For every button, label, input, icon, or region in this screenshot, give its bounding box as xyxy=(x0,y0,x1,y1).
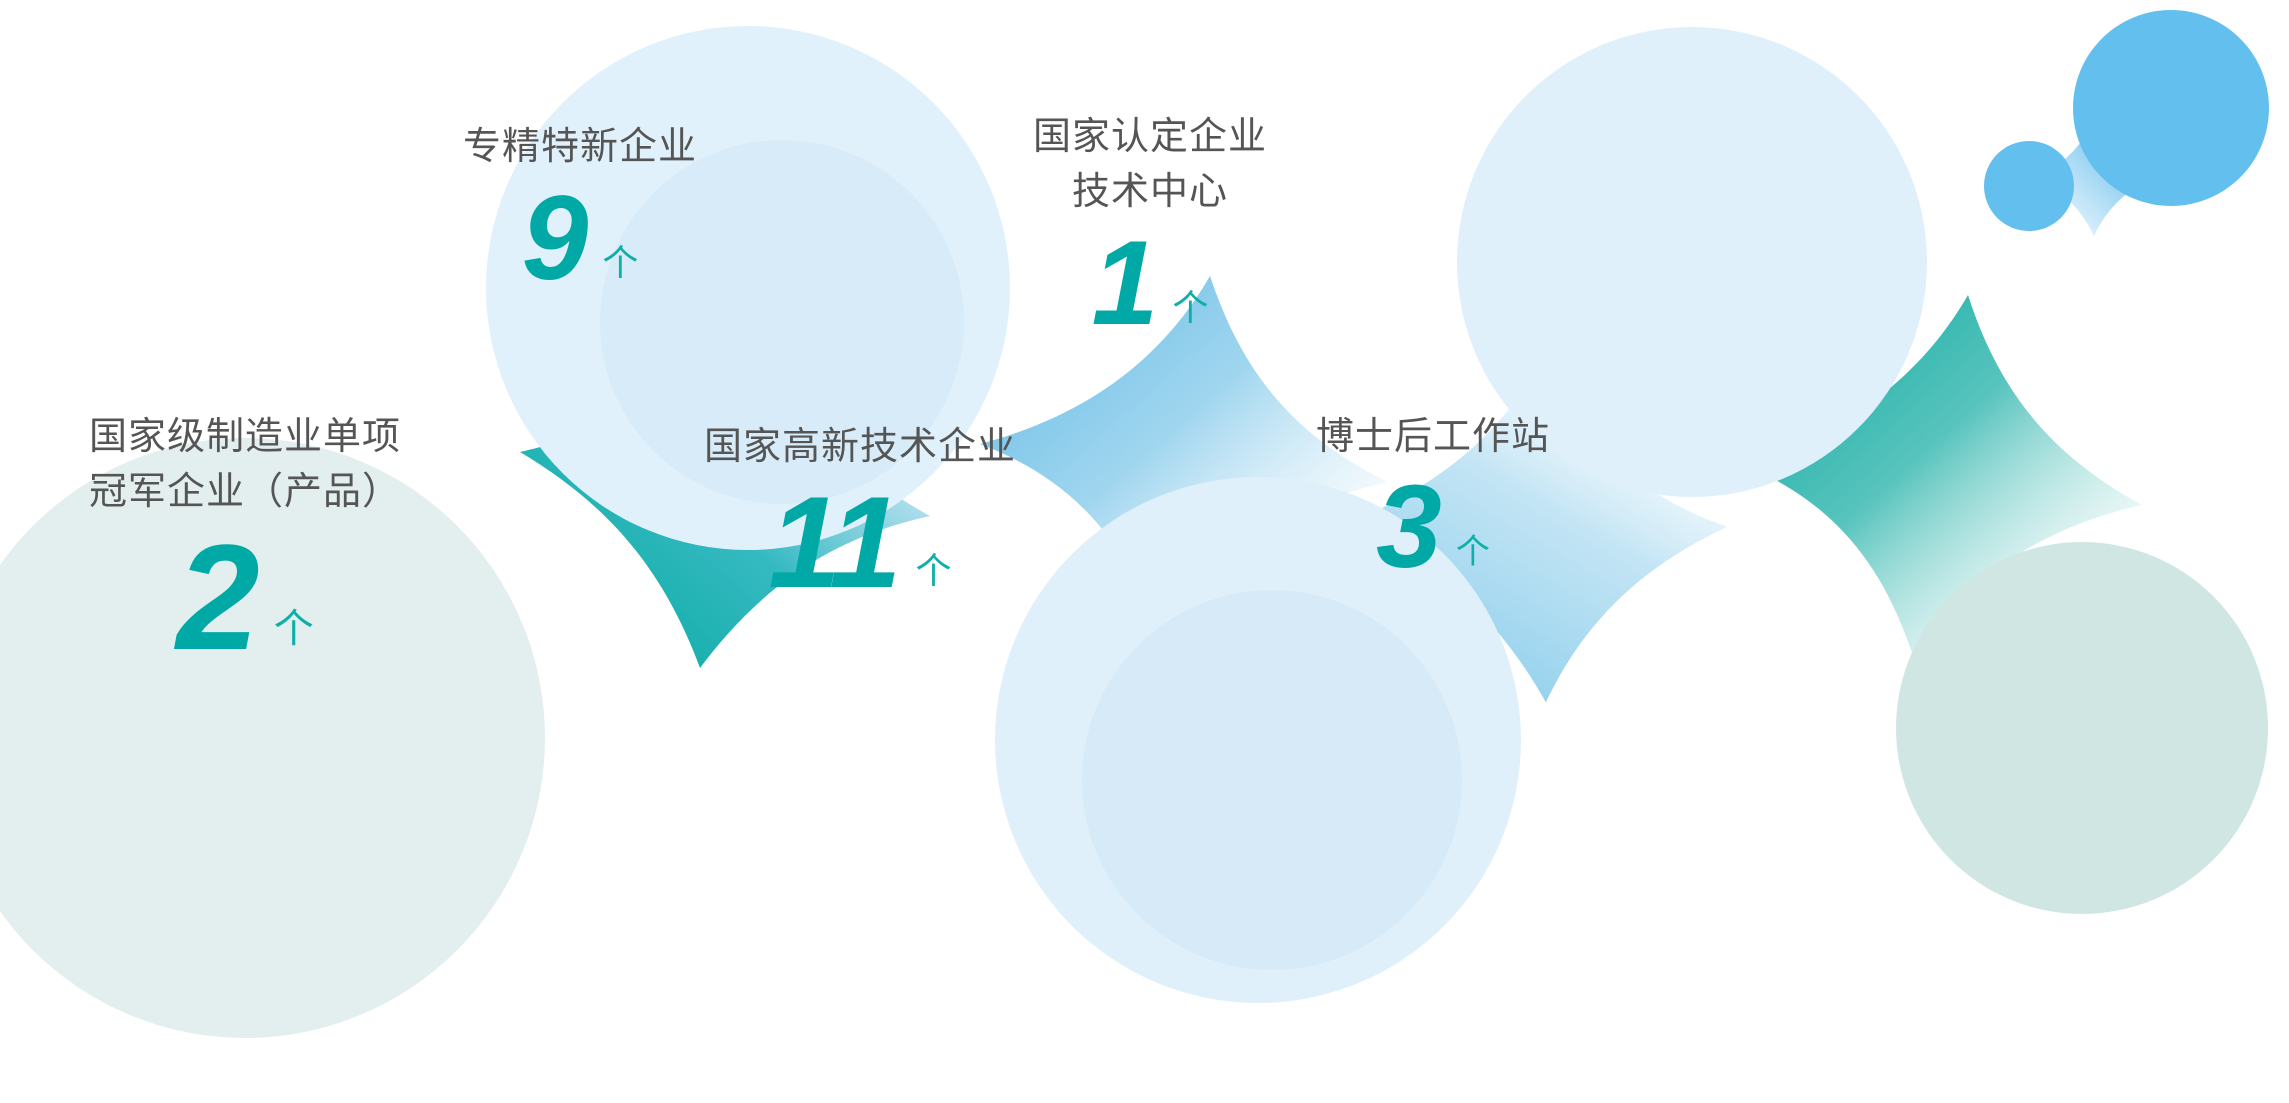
stat-node-national-manufacturing-champion[interactable]: 国家级制造业单项 冠军企业（产品） 2 个 xyxy=(30,410,460,669)
decor-dot-large xyxy=(2073,10,2269,206)
stat-node-specialized-new-enterprise[interactable]: 专精特新企业 9 个 xyxy=(410,120,750,295)
circle-postdoctoral-workstation[interactable] xyxy=(1896,542,2268,914)
stat-value: 9 xyxy=(522,181,587,295)
stat-value: 1 xyxy=(1092,226,1157,340)
stat-value-row: 3 个 xyxy=(1376,471,1490,583)
decor-dot-small xyxy=(1984,141,2074,231)
stat-value: 11 xyxy=(769,481,900,605)
stat-label: 国家认定企业 技术中心 xyxy=(1033,110,1267,220)
stat-value-row: 9 个 xyxy=(522,181,639,295)
stat-label: 博士后工作站 xyxy=(1316,410,1550,465)
stat-unit: 个 xyxy=(602,245,638,281)
stat-value: 3 xyxy=(1376,471,1440,583)
stat-label: 国家高新技术企业 xyxy=(704,420,1016,475)
stat-unit: 个 xyxy=(915,553,951,589)
stat-unit: 个 xyxy=(1456,535,1490,569)
stat-node-postdoctoral-workstation[interactable]: 博士后工作站 3 个 xyxy=(1298,410,1568,583)
stat-label: 国家级制造业单项 冠军企业（产品） xyxy=(89,410,401,520)
stat-value-row: 2 个 xyxy=(176,526,313,669)
stat-value-row: 1 个 xyxy=(1092,226,1209,340)
infographic-canvas: 国家级制造业单项 冠军企业（产品） 2 个 专精特新企业 9 个 国家高新技术企… xyxy=(0,0,2289,1103)
stat-value: 2 xyxy=(176,526,257,669)
stat-unit: 个 xyxy=(274,609,314,649)
stat-node-national-high-tech-enterprise[interactable]: 国家高新技术企业 11 个 xyxy=(680,420,1040,605)
stat-value-row: 11 个 xyxy=(769,481,952,605)
stat-label: 专精特新企业 xyxy=(463,120,697,175)
stat-node-national-enterprise-tech-center[interactable]: 国家认定企业 技术中心 1 个 xyxy=(1000,110,1300,340)
stat-unit: 个 xyxy=(1172,290,1208,326)
